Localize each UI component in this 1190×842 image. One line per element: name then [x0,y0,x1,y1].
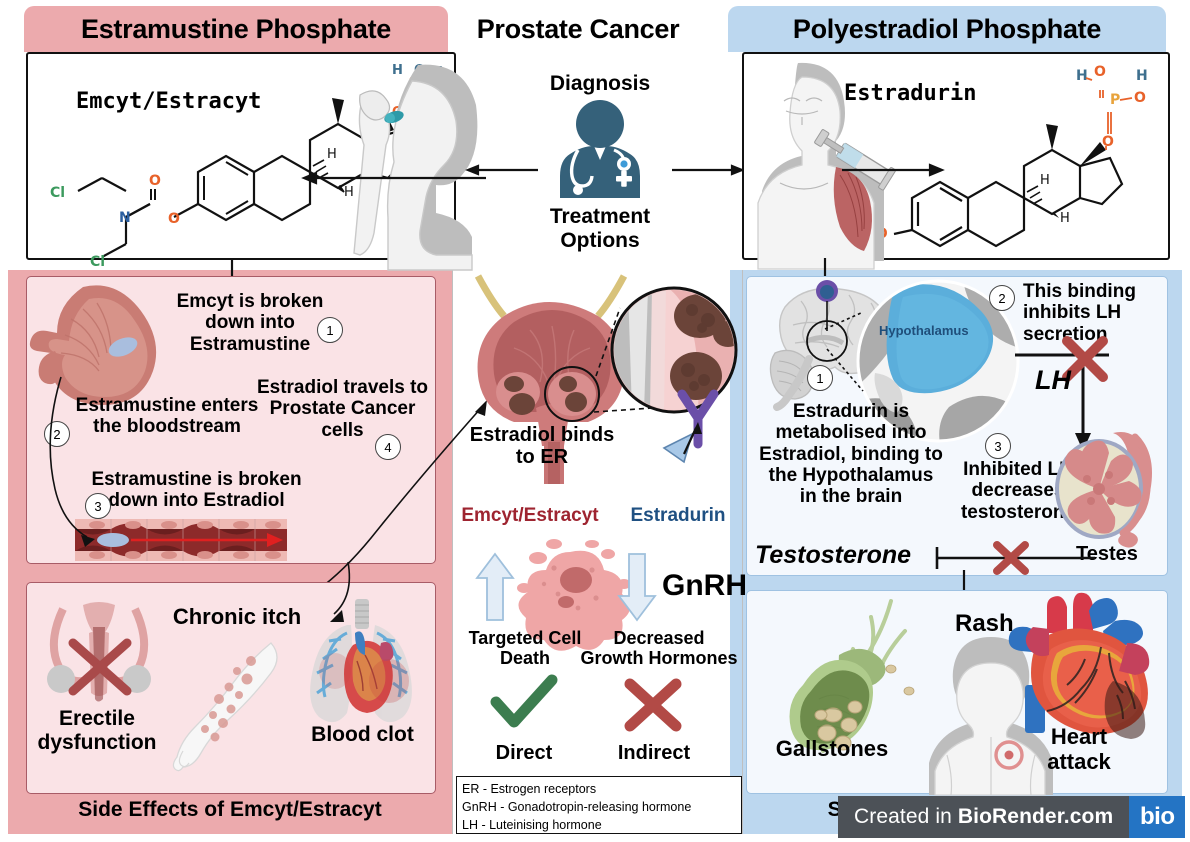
watermark-text: Created in BioRender.com [838,796,1129,838]
svg-text:H: H [1060,211,1070,226]
direct-label: Direct [468,742,580,764]
testosterone-label: Testosterone [755,541,911,569]
cross-icon [622,678,684,734]
header-tab-polyestradiol: Polyestradiol Phosphate [728,6,1166,52]
svg-text:H: H [1136,68,1148,84]
svg-text:P: P [1110,92,1120,108]
emcyt-side-effects-panel: Erectile dysfunction Chronic itch [26,582,436,794]
check-icon [490,676,560,732]
diagnosis-branch-arrows [460,160,750,180]
legend-drug-estradurin: Estradurin [614,505,742,526]
indirect-label: Indirect [598,742,710,764]
svg-text:O: O [168,211,180,227]
left-side-effects-caption: Side Effects of Emcyt/Estracyt [8,798,452,822]
header-right-label: Polyestradiol Phosphate [793,14,1101,45]
svg-text:O: O [1134,90,1146,106]
abbrev-lh: LH - Luteinising hormone [462,816,736,834]
treatment-options-label: Treatment Options [500,205,700,252]
svg-text:H: H [1076,68,1088,84]
estradurin-side-effects-panel: Gallstones Rash [746,590,1168,794]
itch-arrow [292,560,362,638]
step-badge-r1: 1 [807,365,833,391]
divider-right [742,270,743,834]
right-step-1-text: Estradurin is metabolised into Estradiol… [751,401,951,507]
rash-arm-icon [175,641,285,771]
step-badge-r2: 2 [989,285,1015,311]
estradiol-binds-er-label: Estradiol binds to ER [452,424,632,469]
hypothalamus-label: Hypothalamus [879,323,969,338]
svg-text:O: O [1094,64,1106,80]
svg-text:Cl: Cl [90,254,105,270]
diagnosis-label: Diagnosis [500,72,700,96]
heart-attack-label: Heart attack [1009,725,1149,774]
abbrev-er: ER - Estrogen receptors [462,780,736,798]
abbreviations-box: ER - Estrogen receptors GnRH - Gonadotro… [456,776,742,834]
header-tab-prostate-cancer: Prostate Cancer [452,6,704,52]
estradurin-mechanism-panel: Hypothalamus 1 Estradurin is metabolised… [746,276,1168,576]
step-badge-r3: 3 [985,433,1011,459]
doctor-icon [540,98,660,208]
injection-arrow [838,162,948,178]
header-left-label: Estramustine Phosphate [81,14,391,45]
svg-text:Cl: Cl [50,185,65,201]
watermark-prefix: Created in [854,805,952,829]
targeted-cell-death-icon [520,540,630,630]
biorender-watermark: Created in BioRender.com bio [838,796,1185,838]
up-arrow-icon [474,552,516,622]
diagram-canvas: Estramustine Phosphate Prostate Cancer P… [0,0,1190,842]
header-middle-label: Prostate Cancer [477,14,680,45]
down-arrow-icon [616,552,658,622]
gallstones-label: Gallstones [757,737,907,762]
erectile-dysfunction-label: Erectile dysfunction [27,707,167,754]
svg-text:N: N [119,210,131,226]
gnrh-label: GnRH [662,569,747,603]
testis-icon [1047,427,1169,549]
svg-text:O: O [1102,134,1114,150]
biorender-logo: bio [1129,796,1185,838]
svg-text:O: O [149,173,161,189]
blood-clot-label: Blood clot [295,723,430,747]
header-tab-estramustine: Estramustine Phosphate [24,6,448,52]
watermark-brand: BioRender.com [958,805,1113,829]
abbrev-gnrh: GnRH - Gonadotropin-releasing hormone [462,798,736,816]
lh-label: LH [1035,365,1071,395]
heart-icon [1005,593,1165,735]
legend-drug-emcyt: Emcyt/Estracyt [452,505,608,526]
stomach-to-vessel-arrow [33,373,153,573]
svg-text:H: H [1040,173,1050,188]
decreased-growth-hormones-label: Decreased Growth Hormones [574,628,744,668]
right-step-2-text: This binding inhibits LH secretion [1023,281,1173,345]
oral-route-arrow [300,168,490,190]
male-reproductive-system-icon [39,593,159,713]
